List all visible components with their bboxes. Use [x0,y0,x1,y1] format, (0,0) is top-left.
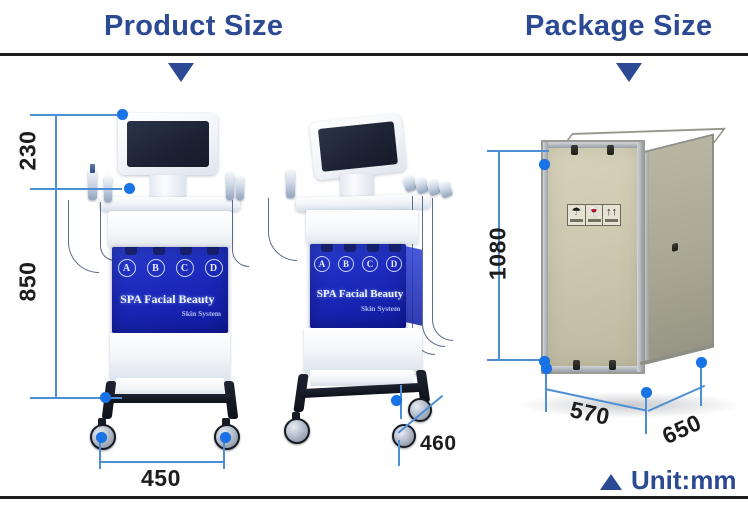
crate-side-face [640,134,714,366]
fragile-icon: 🍷 [586,205,604,225]
unit-note: Unit:mm [600,465,736,496]
dim-570-ext-right [645,392,647,434]
keep-dry-icon: ☂ [568,205,586,225]
unit-label: Unit:mm [631,465,736,496]
shipping-symbols-label: ☂ 🍷 ↑↑ [567,204,621,226]
dim-1080-label: 1080 [485,225,512,283]
dim-dot-570-right [641,387,652,398]
package-crate: ☂ 🍷 ↑↑ [0,0,748,521]
crate-front-face: ☂ 🍷 ↑↑ [541,140,645,374]
this-side-up-icon: ↑↑ [603,205,620,225]
size-diagram-canvas: Product Size Package Size [0,0,748,521]
crate-shadow [520,392,740,418]
triangle-up-icon [600,474,622,490]
dim-dot-570-left [541,363,552,374]
dim-650-ext-right [700,362,702,406]
dim-dot-650-top [696,357,707,368]
dim-570-ext-left [545,370,547,412]
dim-1080-top-ext [487,150,549,152]
dim-dot-1080-top [539,159,550,170]
